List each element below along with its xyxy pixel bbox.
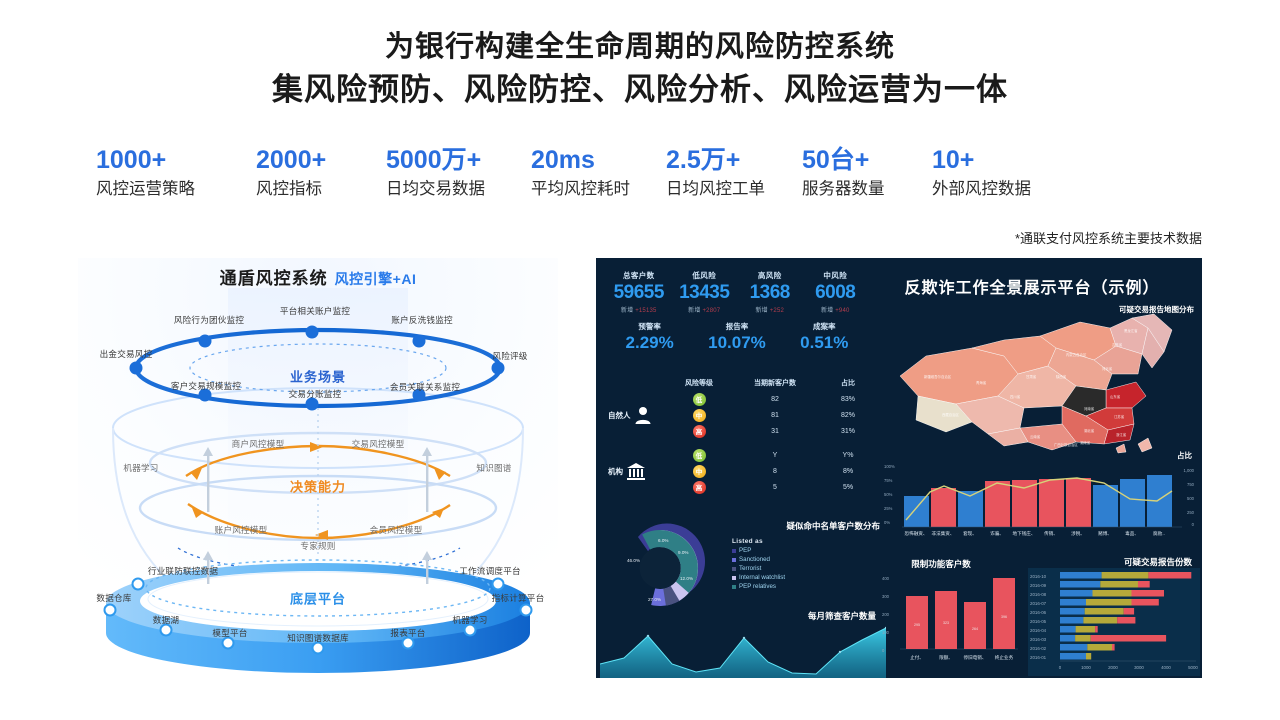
risk-dot-high: 高 bbox=[666, 425, 732, 438]
kpi-value: 1368 bbox=[737, 281, 803, 305]
svg-text:250: 250 bbox=[1187, 510, 1195, 515]
diagram-node-label: 知识图谱 bbox=[476, 462, 511, 474]
diagram-node-label: 行业联防联控数据 bbox=[148, 565, 218, 577]
cell-pct: 31% bbox=[818, 428, 878, 435]
legend-swatch bbox=[732, 585, 736, 589]
cell-count: Y bbox=[732, 452, 818, 459]
rate-label: 成案率 bbox=[781, 321, 868, 332]
table-row: 高 31 31% bbox=[666, 423, 880, 439]
kpi-delta-label: 新增 bbox=[688, 308, 700, 314]
risk-level-badge: 中 bbox=[693, 409, 706, 422]
diagram-node-label: 报表平台 bbox=[390, 627, 425, 639]
table-row: 低 Y Y% bbox=[666, 447, 880, 463]
cell-count: 81 bbox=[732, 412, 818, 419]
svg-text:毒品、: 毒品、 bbox=[1125, 530, 1139, 537]
svg-text:诈骗、: 诈骗、 bbox=[990, 530, 1004, 537]
ring-label-platform: 底层平台 bbox=[290, 589, 346, 608]
diagram-node-label: 账户反洗钱监控 bbox=[391, 314, 453, 326]
svg-text:3000: 3000 bbox=[1134, 665, 1144, 670]
kpi-delta-label: 新增 bbox=[821, 308, 833, 314]
table-group-person: 自然人 低 82 83% 中 81 82% bbox=[608, 391, 880, 439]
legend-swatch bbox=[732, 549, 736, 553]
svg-text:264: 264 bbox=[972, 627, 978, 631]
group-label: 机构 bbox=[608, 466, 623, 477]
rate-card: 预警率 2.29% bbox=[606, 321, 693, 354]
svg-text:5000: 5000 bbox=[1188, 665, 1198, 670]
cell-count: 31 bbox=[732, 428, 818, 435]
stat-item: 20ms 平均风控耗时 bbox=[531, 146, 666, 202]
stat-item: 1000+ 风控运营策略 bbox=[96, 146, 256, 202]
diagram-node-label: 专家规则 bbox=[300, 540, 335, 552]
rate-label: 报告率 bbox=[693, 321, 780, 332]
risk-dot-mid: 中 bbox=[666, 465, 732, 478]
svg-text:湖北省: 湖北省 bbox=[1084, 428, 1095, 433]
svg-text:4000: 4000 bbox=[1161, 665, 1171, 670]
risk-level-badge: 高 bbox=[693, 425, 706, 438]
svg-text:2016-10: 2016-10 bbox=[1030, 574, 1047, 579]
cell-count: 82 bbox=[732, 396, 818, 403]
legend-item: PEP bbox=[732, 547, 785, 554]
cell-count: 8 bbox=[732, 468, 818, 475]
diagram-node-label: 交易风控模型 bbox=[352, 438, 405, 450]
kpi-label: 总客户数 bbox=[606, 270, 672, 281]
svg-text:江苏省: 江苏省 bbox=[1114, 414, 1125, 419]
legend-item: Internal watchlist bbox=[732, 574, 785, 581]
diagram-node-label: 模型平台 bbox=[212, 627, 247, 639]
legend-swatch bbox=[732, 567, 736, 571]
svg-text:1,000: 1,000 bbox=[1184, 468, 1195, 473]
kpi-card: 中风险 6008 新增 +940 bbox=[803, 270, 869, 314]
donut-chart: 疑似命中名单客户数分布 46.0% 27.0% 12.0% bbox=[604, 520, 884, 612]
kpi-label: 低风险 bbox=[672, 270, 738, 281]
svg-text:25%: 25% bbox=[884, 506, 893, 511]
donut-slice-label: 46.0% bbox=[627, 558, 640, 563]
svg-text:云南省: 云南省 bbox=[1030, 434, 1041, 439]
column-header-count: 当期新客户数 bbox=[732, 378, 818, 388]
svg-text:山东省: 山东省 bbox=[1110, 394, 1121, 399]
svg-text:396: 396 bbox=[1001, 615, 1007, 619]
suspicious-reports-bar-chart: 2016-102016-09 2016-082016-07 2016-06201… bbox=[1028, 568, 1200, 676]
china-choropleth-map: 新疆维吾尔自治区 西藏自治区 青海省 四川省 甘肃省 陕西省 内蒙古自治区 吉林… bbox=[880, 312, 1198, 454]
kpi-label: 中风险 bbox=[803, 270, 869, 281]
stat-label: 日均风控工单 bbox=[666, 177, 802, 202]
svg-text:2016-09: 2016-09 bbox=[1030, 583, 1047, 588]
diagram-node-label: 客户交易规模监控 bbox=[171, 380, 241, 392]
svg-text:100%: 100% bbox=[884, 464, 895, 469]
diagram-node-label: 工作流调度平台 bbox=[459, 565, 521, 577]
svg-text:非法集资、: 非法集资、 bbox=[932, 530, 955, 537]
svg-text:0: 0 bbox=[882, 648, 885, 653]
kpi-card: 总客户数 59655 新增 +15135 bbox=[606, 270, 672, 314]
rate-card: 报告率 10.07% bbox=[693, 321, 780, 354]
stat-value: 50台+ bbox=[802, 146, 932, 175]
svg-text:2000: 2000 bbox=[1108, 665, 1118, 670]
cell-pct: Y% bbox=[818, 452, 878, 459]
kpi-row: 总客户数 59655 新增 +15135 低风险 13435 新增 +2807 … bbox=[606, 270, 868, 314]
risk-level-badge: 中 bbox=[693, 465, 706, 478]
group-label: 自然人 bbox=[608, 410, 631, 421]
diagram-node-label: 交易分账监控 bbox=[289, 388, 342, 400]
svg-text:200: 200 bbox=[882, 612, 890, 617]
svg-text:2016-08: 2016-08 bbox=[1030, 592, 1047, 597]
cell-pct: 8% bbox=[818, 468, 878, 475]
svg-text:停旧电销、: 停旧电销、 bbox=[964, 654, 987, 661]
stat-label: 风控指标 bbox=[256, 177, 386, 202]
table-row: 高 5 5% bbox=[666, 479, 880, 495]
diagram-node-label: 数据仓库 bbox=[96, 592, 131, 604]
table-header: 风险等级 当期新客户数 占比 bbox=[608, 378, 880, 388]
title-line-2: 集风险预防、风险防控、风险分析、风险运营为一体 bbox=[0, 68, 1280, 113]
kpi-delta: 新增 +252 bbox=[737, 305, 803, 314]
stat-value: 20ms bbox=[531, 146, 666, 175]
stat-value: 2000+ bbox=[256, 146, 386, 175]
cell-pct: 5% bbox=[818, 484, 878, 491]
diagram-node-label: 出金交易风控 bbox=[100, 348, 153, 360]
diagram-node-label: 机器学习 bbox=[452, 614, 487, 626]
rate-label: 预警率 bbox=[606, 321, 693, 332]
svg-text:新疆维吾尔自治区: 新疆维吾尔自治区 bbox=[924, 374, 952, 379]
kpi-delta-value: +2807 bbox=[702, 308, 720, 314]
risk-level-badge: 低 bbox=[693, 449, 706, 462]
kpi-delta-value: +15135 bbox=[635, 308, 656, 314]
stats-row: 1000+ 风控运营策略 2000+ 风控指标 5000万+ 日均交易数据 20… bbox=[96, 146, 1202, 202]
donut-legend: Listed as PEP Sanctioned Terrorist Inter… bbox=[732, 538, 785, 592]
kpi-card: 低风险 13435 新增 +2807 bbox=[672, 270, 738, 314]
svg-text:500: 500 bbox=[1187, 496, 1195, 501]
restricted-customers-bar-chart: 400300 2001000 295 323 264 396 止付、 限额、 停… bbox=[882, 570, 1022, 670]
rate-value: 0.51% bbox=[781, 332, 868, 354]
ring-label-decision: 决策能力 bbox=[290, 477, 346, 496]
svg-text:2016-07: 2016-07 bbox=[1030, 601, 1047, 606]
svg-text:河北省: 河北省 bbox=[1102, 366, 1113, 371]
stat-item: 50台+ 服务器数量 bbox=[802, 146, 932, 202]
cell-pct: 83% bbox=[818, 396, 878, 403]
svg-text:浙江省: 浙江省 bbox=[1116, 432, 1127, 437]
svg-text:限额、: 限额、 bbox=[939, 654, 953, 661]
kpi-delta: 新增 +15135 bbox=[606, 305, 672, 314]
svg-text:终止业务: 终止业务 bbox=[995, 654, 1014, 661]
donut-graphic: 46.0% 27.0% 12.0% 9.0% 6.0% bbox=[604, 520, 720, 612]
risk-dot-mid: 中 bbox=[666, 409, 732, 422]
diagram-node-label: 数据湖 bbox=[153, 614, 179, 626]
legend-label: Sanctioned bbox=[739, 556, 770, 563]
svg-text:内蒙古自治区: 内蒙古自治区 bbox=[1066, 352, 1087, 357]
restrict-chart-title: 限制功能客户数 bbox=[886, 558, 996, 570]
svg-text:2016-04: 2016-04 bbox=[1030, 628, 1047, 633]
svg-text:2016-02: 2016-02 bbox=[1030, 646, 1047, 651]
svg-text:恐怖融资、: 恐怖融资、 bbox=[905, 530, 928, 537]
svg-text:湖南省: 湖南省 bbox=[1080, 440, 1091, 445]
dashboard-title: 反欺诈工作全景展示平台（示例） bbox=[872, 274, 1192, 298]
donut-chart-title: 疑似命中名单客户数分布 bbox=[786, 520, 880, 532]
table-row: 低 82 83% bbox=[666, 391, 880, 407]
rate-value: 2.29% bbox=[606, 332, 693, 354]
title-line-1: 为银行构建全生命周期的风险防控系统 bbox=[0, 26, 1280, 68]
stat-value: 1000+ bbox=[96, 146, 256, 175]
donut-slice-label: 9.0% bbox=[678, 550, 688, 555]
cell-pct: 82% bbox=[818, 412, 878, 419]
risk-dot-high: 高 bbox=[666, 481, 732, 494]
column-header-pct: 占比 bbox=[818, 378, 878, 388]
svg-text:295: 295 bbox=[914, 623, 920, 627]
svg-text:河南省: 河南省 bbox=[1084, 406, 1095, 411]
group-rows: 低 Y Y% 中 8 8% 高 5 5% bbox=[666, 447, 880, 495]
svg-text:2016-06: 2016-06 bbox=[1030, 610, 1047, 615]
stat-item: 2.5万+ 日均风控工单 bbox=[666, 146, 802, 202]
svg-text:400: 400 bbox=[882, 576, 890, 581]
kpi-delta-value: +940 bbox=[835, 308, 849, 314]
group-rows: 低 82 83% 中 81 82% 高 31 31% bbox=[666, 391, 880, 439]
svg-text:四川省: 四川省 bbox=[1010, 394, 1021, 399]
legend-item: PEP relatives bbox=[732, 583, 785, 590]
diagram-node-label: 平台相关账户监控 bbox=[280, 305, 350, 317]
group-label-wrap: 自然人 bbox=[608, 405, 666, 425]
rate-value: 10.07% bbox=[693, 332, 780, 354]
ring-label-business: 业务场景 bbox=[290, 367, 346, 386]
svg-text:50%: 50% bbox=[884, 492, 893, 497]
risk-dot-low: 低 bbox=[666, 393, 732, 406]
svg-text:黑龙江省: 黑龙江省 bbox=[1124, 328, 1138, 333]
svg-text:陕西省: 陕西省 bbox=[1056, 374, 1067, 379]
architecture-diagram: 通盾风控系统风控引擎+AI bbox=[78, 258, 558, 678]
svg-text:腐败..: 腐败.. bbox=[1153, 530, 1165, 537]
stat-label: 平均风控耗时 bbox=[531, 177, 666, 202]
svg-text:地下钱庄、: 地下钱庄、 bbox=[1013, 530, 1036, 537]
stat-item: 5000万+ 日均交易数据 bbox=[386, 146, 531, 202]
diagram-node-label: 会员关联关系监控 bbox=[390, 381, 460, 393]
stat-value: 10+ bbox=[932, 146, 1052, 175]
donut-slice-label: 27.0% bbox=[648, 597, 661, 602]
kpi-value: 59655 bbox=[606, 281, 672, 305]
diagram-node-label: 账户风控模型 bbox=[215, 524, 268, 536]
svg-text:2016-03: 2016-03 bbox=[1030, 637, 1047, 642]
kpi-value: 6008 bbox=[803, 281, 869, 305]
group-label-wrap: 机构 bbox=[608, 461, 666, 481]
svg-text:广西壮族自治区: 广西壮族自治区 bbox=[1054, 442, 1078, 447]
stat-label: 外部风控数据 bbox=[932, 177, 1052, 202]
kpi-delta-label: 新增 bbox=[621, 308, 633, 314]
kpi-block: 总客户数 59655 新增 +15135 低风险 13435 新增 +2807 … bbox=[606, 270, 868, 354]
risk-level-badge: 低 bbox=[693, 393, 706, 406]
diagram-node-label: 会员风控模型 bbox=[370, 524, 423, 536]
stat-value: 5000万+ bbox=[386, 146, 531, 175]
svg-text:323: 323 bbox=[943, 621, 949, 625]
svg-text:涉税、: 涉税、 bbox=[1071, 530, 1085, 537]
svg-text:西藏自治区: 西藏自治区 bbox=[942, 412, 960, 417]
svg-text:750: 750 bbox=[1187, 482, 1195, 487]
donut-slice-label: 6.0% bbox=[658, 538, 668, 543]
diagram-node-label: 指标计算平台 bbox=[492, 592, 545, 604]
donut-slice-label: 12.0% bbox=[680, 576, 693, 581]
svg-text:300: 300 bbox=[882, 594, 890, 599]
svg-text:2016-01: 2016-01 bbox=[1030, 655, 1047, 660]
slide-root: 为银行构建全生命周期的风险防控系统 集风险预防、风险防控、风险分析、风险运营为一… bbox=[0, 0, 1280, 720]
monthly-screening-area-chart bbox=[600, 624, 886, 678]
cell-count: 5 bbox=[732, 484, 818, 491]
stat-label: 日均交易数据 bbox=[386, 177, 531, 202]
legend-label: Internal watchlist bbox=[739, 574, 785, 581]
kpi-delta: 新增 +2807 bbox=[672, 305, 738, 314]
page-title: 为银行构建全生命周期的风险防控系统 集风险预防、风险防控、风险分析、风险运营为一… bbox=[0, 26, 1280, 113]
svg-text:0: 0 bbox=[1192, 522, 1195, 527]
svg-text:吉林省: 吉林省 bbox=[1112, 342, 1123, 347]
kpi-delta-value: +252 bbox=[770, 308, 784, 314]
legend-swatch bbox=[732, 558, 736, 562]
svg-text:2016-05: 2016-05 bbox=[1030, 619, 1047, 624]
kpi-value: 13435 bbox=[672, 281, 738, 305]
stat-item: 10+ 外部风控数据 bbox=[932, 146, 1052, 202]
legend-title: Listed as bbox=[732, 538, 785, 545]
svg-text:套现、: 套现、 bbox=[963, 530, 977, 537]
diagram-node-label: 知识图谱数据库 bbox=[287, 632, 349, 644]
svg-text:止付、: 止付、 bbox=[910, 654, 924, 661]
legend-label: PEP relatives bbox=[739, 583, 776, 590]
stat-label: 服务器数量 bbox=[802, 177, 932, 202]
antifraud-dashboard: 反欺诈工作全景展示平台（示例） 总客户数 59655 新增 +15135 低风险… bbox=[596, 258, 1202, 678]
svg-text:甘肃省: 甘肃省 bbox=[1026, 374, 1037, 379]
risk-level-badge: 高 bbox=[693, 481, 706, 494]
stat-item: 2000+ 风控指标 bbox=[256, 146, 386, 202]
legend-swatch bbox=[732, 576, 736, 580]
stat-value: 2.5万+ bbox=[666, 146, 802, 175]
rate-row: 预警率 2.29% 报告率 10.07% 成案率 0.51% bbox=[606, 321, 868, 354]
diagram-node-label: 风险行为团伙监控 bbox=[174, 314, 244, 326]
svg-text:传销、: 传销、 bbox=[1044, 530, 1058, 537]
diagram-node-label: 商户风控模型 bbox=[232, 438, 285, 450]
rate-card: 成案率 0.51% bbox=[781, 321, 868, 354]
diagram-node-label: 风险评级 bbox=[492, 350, 527, 362]
svg-text:1000: 1000 bbox=[1081, 665, 1091, 670]
risk-level-table: 风险等级 当期新客户数 占比 自然人 低 82 83% bbox=[608, 378, 880, 495]
kpi-card: 高风险 1368 新增 +252 bbox=[737, 270, 803, 314]
legend-label: PEP bbox=[739, 547, 751, 554]
svg-text:青海省: 青海省 bbox=[976, 380, 987, 385]
footnote: *通联支付风控系统主要技术数据 bbox=[1015, 228, 1202, 247]
fraud-type-combo-chart: 100%75% 50%25%0% 1,000750 5002500 bbox=[882, 458, 1196, 550]
svg-text:0%: 0% bbox=[884, 520, 890, 525]
table-row: 中 81 82% bbox=[666, 407, 880, 423]
reports-chart-title: 可疑交易报告份数 bbox=[1124, 556, 1192, 568]
person-icon bbox=[634, 405, 652, 425]
kpi-delta-label: 新增 bbox=[755, 308, 767, 314]
diagram-node-label: 机器学习 bbox=[123, 462, 158, 474]
column-header-level: 风险等级 bbox=[666, 378, 732, 388]
legend-item: Terrorist bbox=[732, 565, 785, 572]
kpi-label: 高风险 bbox=[737, 270, 803, 281]
risk-dot-low: 低 bbox=[666, 449, 732, 462]
kpi-delta: 新增 +940 bbox=[803, 305, 869, 314]
stat-label: 风控运营策略 bbox=[96, 177, 256, 202]
svg-text:100: 100 bbox=[882, 630, 890, 635]
svg-text:赌博、: 赌博、 bbox=[1098, 530, 1112, 537]
area-chart-title: 每月筛查客户数量 bbox=[746, 610, 876, 622]
table-group-institution: 机构 低 Y Y% bbox=[608, 447, 880, 495]
bank-icon bbox=[626, 461, 646, 481]
legend-item: Sanctioned bbox=[732, 556, 785, 563]
svg-text:75%: 75% bbox=[884, 478, 893, 483]
legend-label: Terrorist bbox=[739, 565, 761, 572]
table-row: 中 8 8% bbox=[666, 463, 880, 479]
